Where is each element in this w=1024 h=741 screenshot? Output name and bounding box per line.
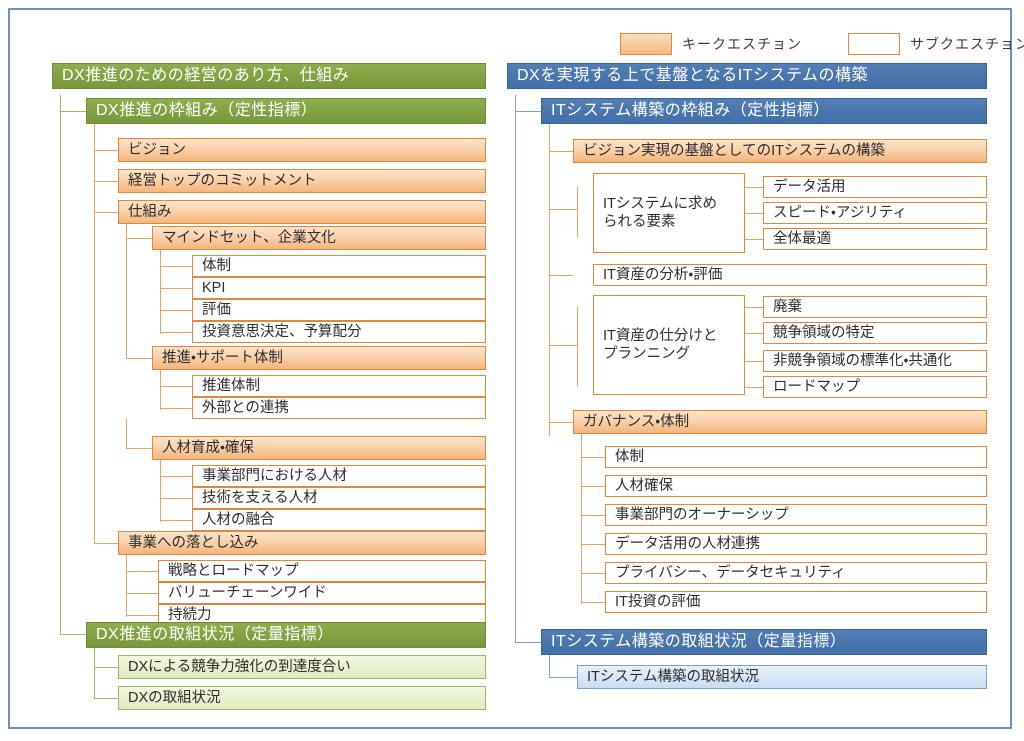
left-sub-external-cooperation[interactable]: 外部との連携 (192, 397, 486, 419)
right-sub-competitive-domain[interactable]: 競争領域の特定 (763, 322, 987, 344)
connector-governance-trunk (581, 434, 582, 604)
legend-key-label: キークエスチョン (682, 34, 802, 54)
right-item-it-requirements[interactable]: ITシステムに求め られる要素 (593, 173, 745, 253)
right-item-governance[interactable]: ガバナンス・体制 (573, 410, 987, 434)
left-sub-taisei[interactable]: 体制 (192, 255, 486, 277)
left-sub-talent-fusion[interactable]: 人材の融合 (192, 509, 486, 531)
left-quant-item-dx-status[interactable]: DXの取組状況 (118, 686, 486, 710)
connector-l1-deployment (94, 543, 118, 544)
left-sub-investment-decision[interactable]: 投資意思決定、予算配分 (192, 321, 486, 343)
connector-deployment-trunk (126, 555, 127, 617)
left-quantitative-header: DX推進の取組状況（定量指標） (86, 622, 486, 648)
connector-r2-standardization (745, 361, 763, 362)
right-sub-gov-ownership[interactable]: 事業部門のオーナーシップ (605, 504, 987, 526)
left-sub-promotion-system[interactable]: 推進体制 (192, 375, 486, 397)
connector-l2-strategy (126, 571, 158, 572)
connector-r1-vision-platform (549, 151, 573, 152)
right-quantitative-header: ITシステム構築の取組状況（定量指標） (541, 629, 987, 655)
left-item-mechanism[interactable]: 仕組み (118, 200, 486, 224)
connector-l3-hyouka (160, 310, 192, 311)
connector-r2-speed (745, 213, 763, 214)
legend-key-swatch (620, 33, 672, 55)
left-item-commitment[interactable]: 経営トップのコミットメント (118, 169, 486, 193)
right-item-vision-platform[interactable]: ビジョン実現の基盤としてのITシステムの構築 (573, 139, 987, 163)
connector-requirements-trunk (577, 187, 578, 237)
connector-r2-optimization (745, 239, 763, 240)
connector-right-to-quantitative (515, 642, 541, 643)
left-sub-evaluation[interactable]: 評価 (192, 299, 486, 321)
connector-r2-gov-it-investment (581, 602, 605, 603)
connector-r2-disposal (745, 307, 763, 308)
connector-left-qual-trunk (94, 124, 95, 544)
right-sub-overall-optimization[interactable]: 全体最適 (763, 228, 987, 250)
right-sub-gov-structure[interactable]: 体制 (605, 446, 987, 468)
connector-r2-roadmap (745, 387, 763, 388)
left-sub-value-chain-wide[interactable]: バリューチェーンワイド (158, 582, 486, 604)
right-sub-disposal[interactable]: 廃棄 (763, 296, 987, 318)
connector-left-quant-trunk (94, 648, 95, 698)
right-sub-noncompetitive-standardization[interactable]: 非競争領域の標準化・共通化 (763, 350, 987, 372)
connector-left-main-trunk (60, 95, 61, 635)
connector-quant-item1 (94, 667, 118, 668)
left-item-mindset[interactable]: マインドセット、企業文化 (152, 226, 486, 250)
connector-l2-valuechain (126, 593, 158, 594)
connector-l3-talent-fusion (160, 520, 192, 521)
connector-planning-trunk (577, 307, 578, 387)
connector-right-main-trunk (515, 95, 516, 643)
connector-right-quant-item1 (549, 677, 577, 678)
connector-l3-kpi (160, 288, 192, 289)
connector-r2-gov-data-talent (581, 544, 605, 545)
diagram-frame: キークエスチョン サブクエスチョン DX推進のための経営のあり方、仕組み DX推… (8, 8, 1012, 729)
right-quant-item-it-system-status[interactable]: ITシステム構築の取組状況 (577, 665, 987, 689)
connector-l3-promotion (160, 386, 192, 387)
connector-l3-taisei (160, 266, 192, 267)
connector-mechanism-trunk2 (126, 339, 127, 358)
connector-r2-data-usage (745, 187, 763, 188)
connector-r2-competitive-area (745, 333, 763, 334)
right-sub-gov-privacy-security[interactable]: プライバシー、データセキュリティ (605, 562, 987, 584)
connector-l3-business-talent (160, 476, 192, 477)
left-main-header: DX推進のための経営のあり方、仕組み (52, 63, 486, 89)
left-sub-business-division-talent[interactable]: 事業部門における人材 (192, 465, 486, 487)
right-item-asset-analysis[interactable]: IT資産の分析・評価 (593, 264, 987, 286)
connector-mindset-trunk (160, 250, 161, 334)
left-item-business-deployment[interactable]: 事業への落とし込み (118, 531, 486, 555)
left-item-vision[interactable]: ビジョン (118, 138, 486, 162)
left-item-talent-development[interactable]: 人材育成・確保 (152, 436, 486, 460)
connector-l1-commitment (94, 181, 118, 182)
right-sub-gov-data-talent-link[interactable]: データ活用の人材連携 (605, 533, 987, 555)
connector-r2-gov-ownership (581, 515, 605, 516)
connector-r1-requirements (549, 209, 577, 210)
left-qualitative-header: DX推進の枠組み（定性指標） (86, 98, 486, 124)
connector-l2-support (126, 358, 152, 359)
connector-l2-sustainability (126, 615, 158, 616)
connector-l1-mechanism (94, 212, 118, 213)
connector-left-to-qualitative (60, 111, 86, 112)
connector-l2-talent (126, 448, 152, 449)
right-sub-speed-agility[interactable]: スピード・アジリティ (763, 202, 987, 224)
left-item-support-system[interactable]: 推進・サポート体制 (152, 346, 486, 370)
right-sub-gov-talent-securing[interactable]: 人材確保 (605, 475, 987, 497)
connector-r1-asset-planning (549, 345, 577, 346)
left-sub-strategy-roadmap[interactable]: 戦略とロードマップ (158, 560, 486, 582)
left-sub-technical-talent[interactable]: 技術を支える人材 (192, 487, 486, 509)
connector-right-trunk-seg1 (549, 163, 550, 209)
connector-support-trunk (160, 370, 161, 410)
connector-mechanism-trunk (126, 224, 127, 339)
connector-left-to-quantitative (60, 634, 86, 635)
legend: キークエスチョン サブクエスチョン (620, 32, 1024, 56)
connector-r1-governance (549, 422, 573, 423)
left-sub-kpi[interactable]: KPI (192, 277, 486, 299)
right-sub-roadmap[interactable]: ロードマップ (763, 376, 987, 398)
right-sub-gov-it-investment-eval[interactable]: IT投資の評価 (605, 591, 987, 613)
left-quant-item-competitiveness[interactable]: DXによる競争力強化の到達度合い (118, 655, 486, 679)
connector-l3-tech-talent (160, 498, 192, 499)
connector-r2-gov-talent (581, 486, 605, 487)
connector-r2-gov-privacy (581, 573, 605, 574)
connector-l2-mindset (126, 238, 152, 239)
connector-r2-gov-taisei (581, 457, 605, 458)
legend-sub-swatch (848, 33, 900, 55)
legend-sub-label: サブクエスチョン (910, 34, 1024, 54)
connector-quant-item2 (94, 698, 118, 699)
connector-l3-investment (160, 332, 192, 333)
connector-talent-trunk (160, 460, 161, 522)
right-main-header: DXを実現する上で基盤となるITシステムの構築 (507, 63, 987, 89)
connector-l3-external (160, 408, 192, 409)
connector-l1-vision (94, 150, 118, 151)
right-qualitative-header: ITシステム構築の枠組み（定性指標） (541, 98, 987, 124)
connector-mechanism-trunk3 (126, 419, 127, 448)
right-sub-data-utilization[interactable]: データ活用 (763, 176, 987, 198)
right-item-asset-planning[interactable]: IT資産の仕分けと プランニング (593, 295, 745, 395)
connector-right-to-qualitative (515, 111, 541, 112)
connector-r1-asset-analysis (549, 275, 573, 276)
connector-right-quant-trunk (549, 655, 550, 677)
